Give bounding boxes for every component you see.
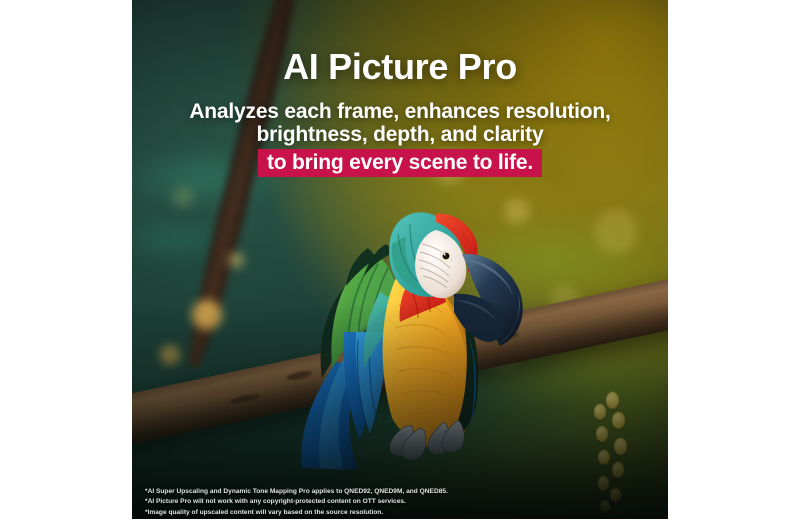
subheadline-line-2: brightness, depth, and clarity (0, 123, 800, 146)
hero-banner: *AI Super Upscaling and Dynamic Tone Map… (0, 0, 800, 531)
footnote-item: *AI Super Upscaling and Dynamic Tone Map… (145, 487, 575, 497)
subheadline-line-1: Analyzes each frame, enhances resolution… (0, 100, 800, 123)
footnote-item: *Image quality of upscaled content will … (145, 508, 575, 518)
footnote-item: *AI Picture Pro will not work with any c… (145, 497, 575, 507)
footnotes: *AI Super Upscaling and Dynamic Tone Map… (145, 487, 575, 518)
subheadline: Analyzes each frame, enhances resolution… (0, 100, 800, 177)
page-title: AI Picture Pro (0, 46, 800, 88)
subheadline-highlight: to bring every scene to life. (258, 149, 542, 177)
